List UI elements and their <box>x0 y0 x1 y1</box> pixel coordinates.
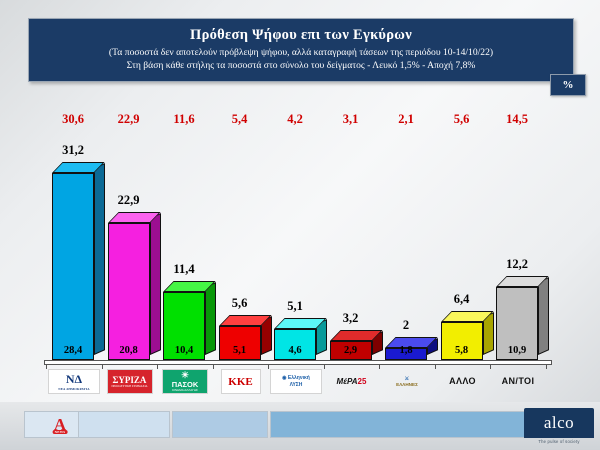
party-logo-nd: ΝΔΝΕΑ ΔΗΜΟΚΡΑΤΙΑ <box>48 369 100 394</box>
bar-inner-value-anapofasistoi: 10,9 <box>496 345 538 356</box>
bar-top-value-anapofasistoi: 12,2 <box>486 257 548 272</box>
category-label-elliniki-lysi: ◉ ΕλληνικήΛΥΣΗ <box>268 369 324 394</box>
bar-allo[interactable]: 5,86,4 <box>441 322 483 360</box>
footer-block-4 <box>270 411 526 438</box>
bar-inner-value-pasok: 10,4 <box>163 345 205 356</box>
header-subtitle-period: (Τα ποσοστά δεν αποτελούν πρόβλεψη ψήφου… <box>109 47 493 60</box>
category-label-allo: ΑΛΛΟ <box>435 369 491 394</box>
category-labels-row: ΝΔΝΕΑ ΔΗΜΟΚΡΑΤΙΑΣΥΡΙΖΑΠΡΟΟΔΕΥΤΙΚΗ ΣΥΜΜΑΧ… <box>0 369 600 397</box>
bar-top-value-nd: 31,2 <box>42 143 104 158</box>
bar-mera25[interactable]: 2,93,2 <box>330 341 372 360</box>
bar-chart-plot-area: 28,431,220,822,910,411,45,15,64,65,12,93… <box>0 140 600 365</box>
category-label-ellines: ⚔ΕΛΛΗΝΕΣ <box>379 369 435 394</box>
bar-ellines[interactable]: 1,82 <box>385 348 427 360</box>
bar-inner-value-syriza: 20,8 <box>108 345 150 356</box>
party-logo-syriza: ΣΥΡΙΖΑΠΡΟΟΔΕΥΤΙΚΗ ΣΥΜΜΑΧΙΑ <box>107 369 153 394</box>
alco-logo: alco <box>524 408 594 438</box>
bar-side-face <box>150 213 161 355</box>
bar-inner-value-allo: 5,8 <box>441 345 483 356</box>
party-logo-mera25: MέΡΑ25 <box>329 369 375 394</box>
category-label-kke: ΚΚΕ <box>213 369 269 394</box>
header-subtitle-base: Στη βάση κάθε στήλης τα ποσοστά στο σύνο… <box>127 60 476 73</box>
bar-syriza[interactable]: 20,822,9 <box>108 223 150 360</box>
bar-inner-value-kke: 5,1 <box>219 345 261 356</box>
alpha-news-tag: NEWS <box>53 430 68 434</box>
category-text-allo: ΑΛΛΟ <box>435 369 491 394</box>
bar-top-value-ellines: 2 <box>375 318 437 333</box>
bar-inner-value-ellines: 1,8 <box>385 345 427 356</box>
previous-wave-values-row: 30,622,911,65,44,23,12,15,614,5 <box>0 112 600 130</box>
bar-pasok[interactable]: 10,411,4 <box>163 292 205 360</box>
bar-elliniki-lysi[interactable]: 4,65,1 <box>274 329 316 360</box>
alpha-a-icon: A NEWS <box>54 416 66 433</box>
bar-kke[interactable]: 5,15,6 <box>219 326 261 360</box>
party-logo-ellines: ⚔ΕΛΛΗΝΕΣ <box>382 369 432 394</box>
category-label-nd: ΝΔΝΕΑ ΔΗΜΟΚΡΑΤΙΑ <box>46 369 102 394</box>
percent-unit-badge: % <box>550 74 586 96</box>
bar-side-face <box>205 282 216 355</box>
party-logo-pasok: ☀ΠΑΣΟΚΚΙΝΗΜΑ ΑΛΛΑΓΗΣ <box>162 369 208 394</box>
footer-block-2 <box>78 411 170 438</box>
category-label-antoi: ΑΝ/ΤΟΙ <box>490 369 546 394</box>
alco-tagline: The pulse of society <box>524 439 594 444</box>
party-logo-kke: ΚΚΕ <box>221 369 261 394</box>
alco-wordmark: alco <box>544 413 574 433</box>
bar-inner-value-elliniki-lysi: 4,6 <box>274 345 316 356</box>
bar-inner-value-mera25: 2,9 <box>330 345 372 356</box>
bar-front-face <box>52 173 94 360</box>
bar-top-value-mera25: 3,2 <box>320 311 382 326</box>
bar-top-value-pasok: 11,4 <box>153 262 215 277</box>
bar-top-value-allo: 6,4 <box>431 292 493 307</box>
bar-nd[interactable]: 28,431,2 <box>52 173 94 360</box>
party-logo-elliniki-lysi: ◉ ΕλληνικήΛΥΣΗ <box>270 369 322 394</box>
category-label-pasok: ☀ΠΑΣΟΚΚΙΝΗΜΑ ΑΛΛΑΓΗΣ <box>157 369 213 394</box>
bar-side-face <box>538 277 549 355</box>
footer-bar: A NEWS alco The pulse of society <box>0 402 600 450</box>
category-label-syriza: ΣΥΡΙΖΑΠΡΟΟΔΕΥΤΙΚΗ ΣΥΜΜΑΧΙΑ <box>102 369 158 394</box>
chart-header-banner: Πρόθεση Ψήφου επι των Εγκύρων (Τα ποσοστ… <box>28 18 574 82</box>
bar-top-value-kke: 5,6 <box>209 296 271 311</box>
category-text-antoi: ΑΝ/ΤΟΙ <box>490 369 546 394</box>
category-label-mera25: MέΡΑ25 <box>324 369 380 394</box>
bar-inner-value-nd: 28,4 <box>52 345 94 356</box>
previous-value-anapofasistoi: 14,5 <box>484 112 550 127</box>
page-title: Πρόθεση Ψήφου επι των Εγκύρων <box>190 27 412 44</box>
bar-anapofasistoi[interactable]: 10,912,2 <box>496 287 538 360</box>
bar-top-value-elliniki-lysi: 5,1 <box>264 299 326 314</box>
footer-block-3 <box>172 411 268 438</box>
axis-line <box>44 360 552 365</box>
slide-canvas: Πρόθεση Ψήφου επι των Εγκύρων (Τα ποσοστ… <box>0 0 600 450</box>
bar-front-face <box>108 223 150 360</box>
bar-top-value-syriza: 22,9 <box>98 193 160 208</box>
